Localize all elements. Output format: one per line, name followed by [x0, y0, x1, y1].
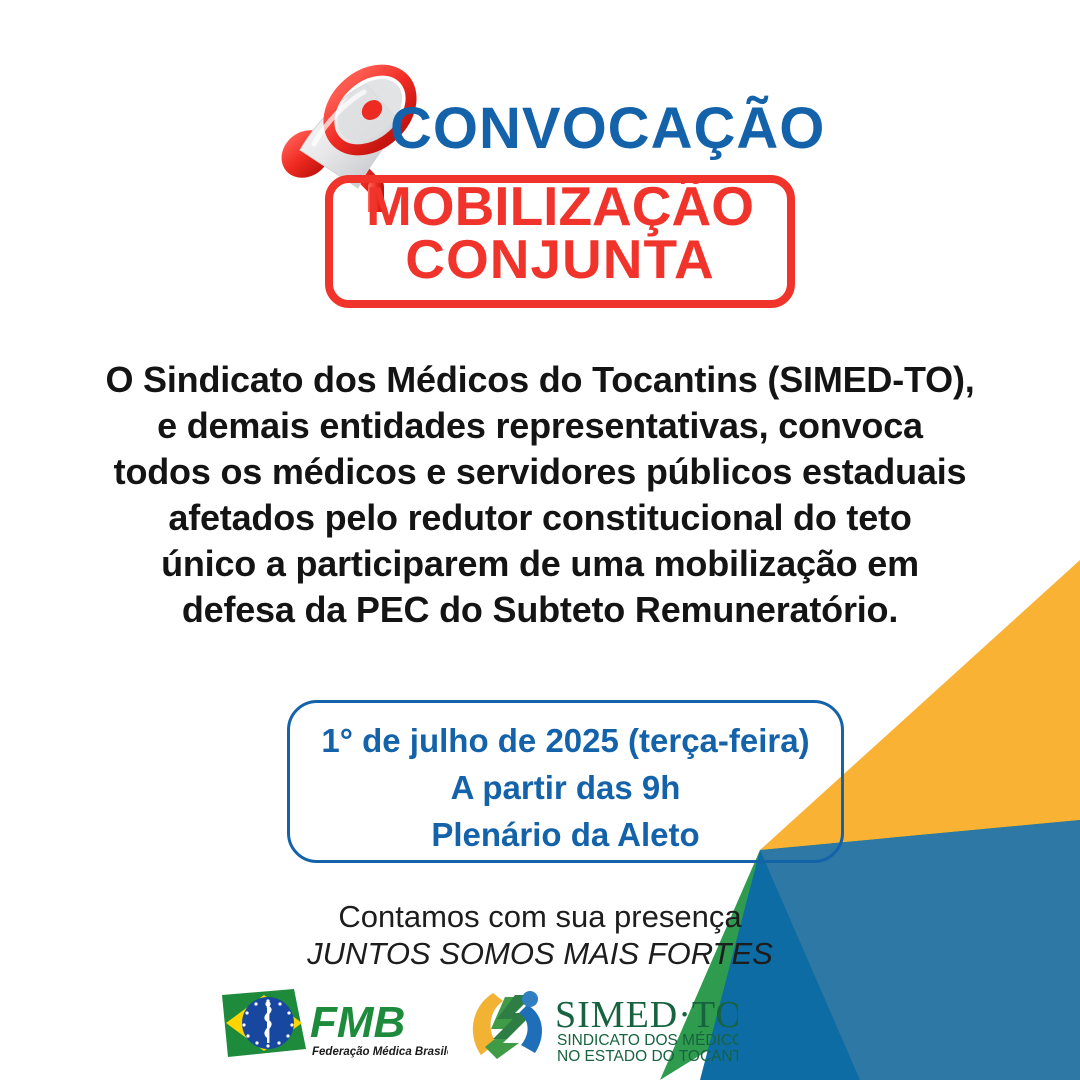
simed-figure-mark-icon — [473, 991, 542, 1059]
body-line-1: O Sindicato dos Médicos do Tocantins (SI… — [60, 357, 1020, 403]
fmb-subtitle: Federação Médica Brasileira — [312, 1046, 448, 1058]
slogan-block: Contamos com sua presença JUNTOS SOMOS M… — [60, 898, 1020, 974]
fmb-acronym: FMB — [310, 998, 405, 1047]
page-title: CONVOCAÇÃO — [390, 100, 1030, 158]
body-paragraph: O Sindicato dos Médicos do Tocantins (SI… — [60, 357, 1020, 633]
logo-row: FMB Federação Médica Brasileira SIMED·TO… — [0, 985, 1080, 1070]
poster-canvas: CONVOCAÇÃO MOBILIZAÇÃO CONJUNTA O Sindic… — [0, 0, 1080, 1080]
mobilization-badge-text: MOBILIZAÇÃO CONJUNTA — [325, 180, 795, 287]
event-place: Plenário da Aleto — [287, 812, 844, 859]
body-line-4: afetados pelo redutor constitucional do … — [60, 495, 1020, 541]
body-line-6: defesa da PEC do Subteto Remuneratório. — [60, 587, 1020, 633]
simed-to-logo: SIMED·TO SINDICATO DOS MÉDICOS NO ESTADO… — [463, 987, 738, 1065]
body-line-2: e demais entidades representativas, conv… — [60, 403, 1020, 449]
event-details-text: 1° de julho de 2025 (terça-feira) A part… — [287, 718, 844, 859]
simed-subtitle-1: SINDICATO DOS MÉDICOS — [557, 1032, 738, 1049]
badge-line-2: CONJUNTA — [405, 228, 714, 290]
body-line-5: único a participarem de uma mobilização … — [60, 541, 1020, 587]
simed-acronym: SIMED·TO — [555, 994, 738, 1036]
event-time: A partir das 9h — [287, 765, 844, 812]
body-line-3: todos os médicos e servidores públicos e… — [60, 449, 1020, 495]
slogan-line-2: JUNTOS SOMOS MAIS FORTES — [60, 935, 1020, 974]
slogan-line-1: Contamos com sua presença — [60, 898, 1020, 935]
header-block: CONVOCAÇÃO MOBILIZAÇÃO CONJUNTA — [0, 58, 1080, 318]
fmb-logo: FMB Federação Médica Brasileira — [218, 985, 448, 1065]
event-date: 1° de julho de 2025 (terça-feira) — [287, 718, 844, 765]
brazil-flag-globe-caduceus-icon — [222, 989, 306, 1057]
simed-subtitle-2: NO ESTADO DO TOCANTINS — [557, 1048, 738, 1065]
